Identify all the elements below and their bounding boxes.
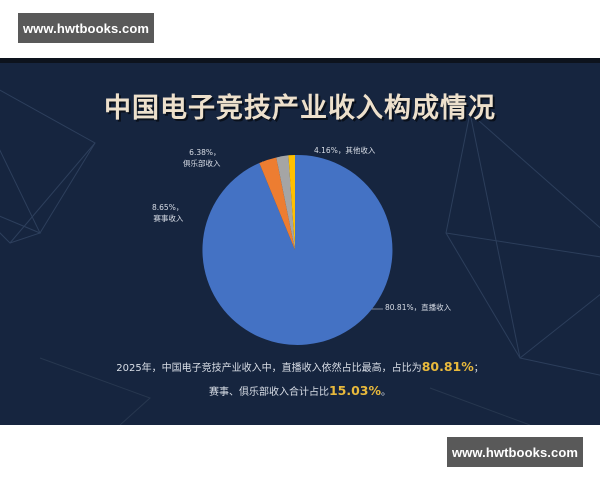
caption-highlight-combined: 15.03% [329, 383, 381, 398]
pie-label-event-name: 赛事收入 [152, 214, 183, 225]
pie-label-event: 8.65%， 赛事收入 [152, 203, 183, 225]
pie-label-live: 80.81%，直播收入 [385, 303, 451, 314]
slide-panel: 中国电子竞技产业收入构成情况 [0, 58, 600, 425]
pie-label-other: 4.16%，其他收入 [314, 146, 375, 157]
pie-label-club-name: 俱乐部收入 [183, 159, 221, 170]
caption-line1-tail: ； [474, 363, 484, 374]
caption-line2-tail: 。 [381, 387, 391, 398]
pie-slice-live [202, 155, 392, 345]
pie-label-event-pct: 8.65%， [152, 203, 183, 214]
watermark-top: www.hwtbooks.com [18, 13, 154, 43]
pie-label-club: 6.38%， 俱乐部收入 [183, 148, 221, 170]
caption: 2025年，中国电子竞技产业收入中，直播收入依然占比最高，占比为80.81%； … [60, 355, 540, 404]
pie-label-club-pct: 6.38%， [183, 148, 221, 159]
caption-highlight-live: 80.81% [422, 359, 474, 374]
watermark-top-text: www.hwtbooks.com [23, 21, 149, 36]
caption-line1-text: 2025年，中国电子竞技产业收入中，直播收入依然占比最高，占比为 [116, 363, 421, 374]
watermark-bottom: www.hwtbooks.com [447, 437, 583, 467]
slide-screenshot: www.hwtbooks.com 中国电子竞技产业收入构成情况 [0, 0, 600, 480]
caption-line2-text: 赛事、俱乐部收入合计占比 [209, 387, 329, 398]
watermark-bottom-text: www.hwtbooks.com [452, 445, 578, 460]
